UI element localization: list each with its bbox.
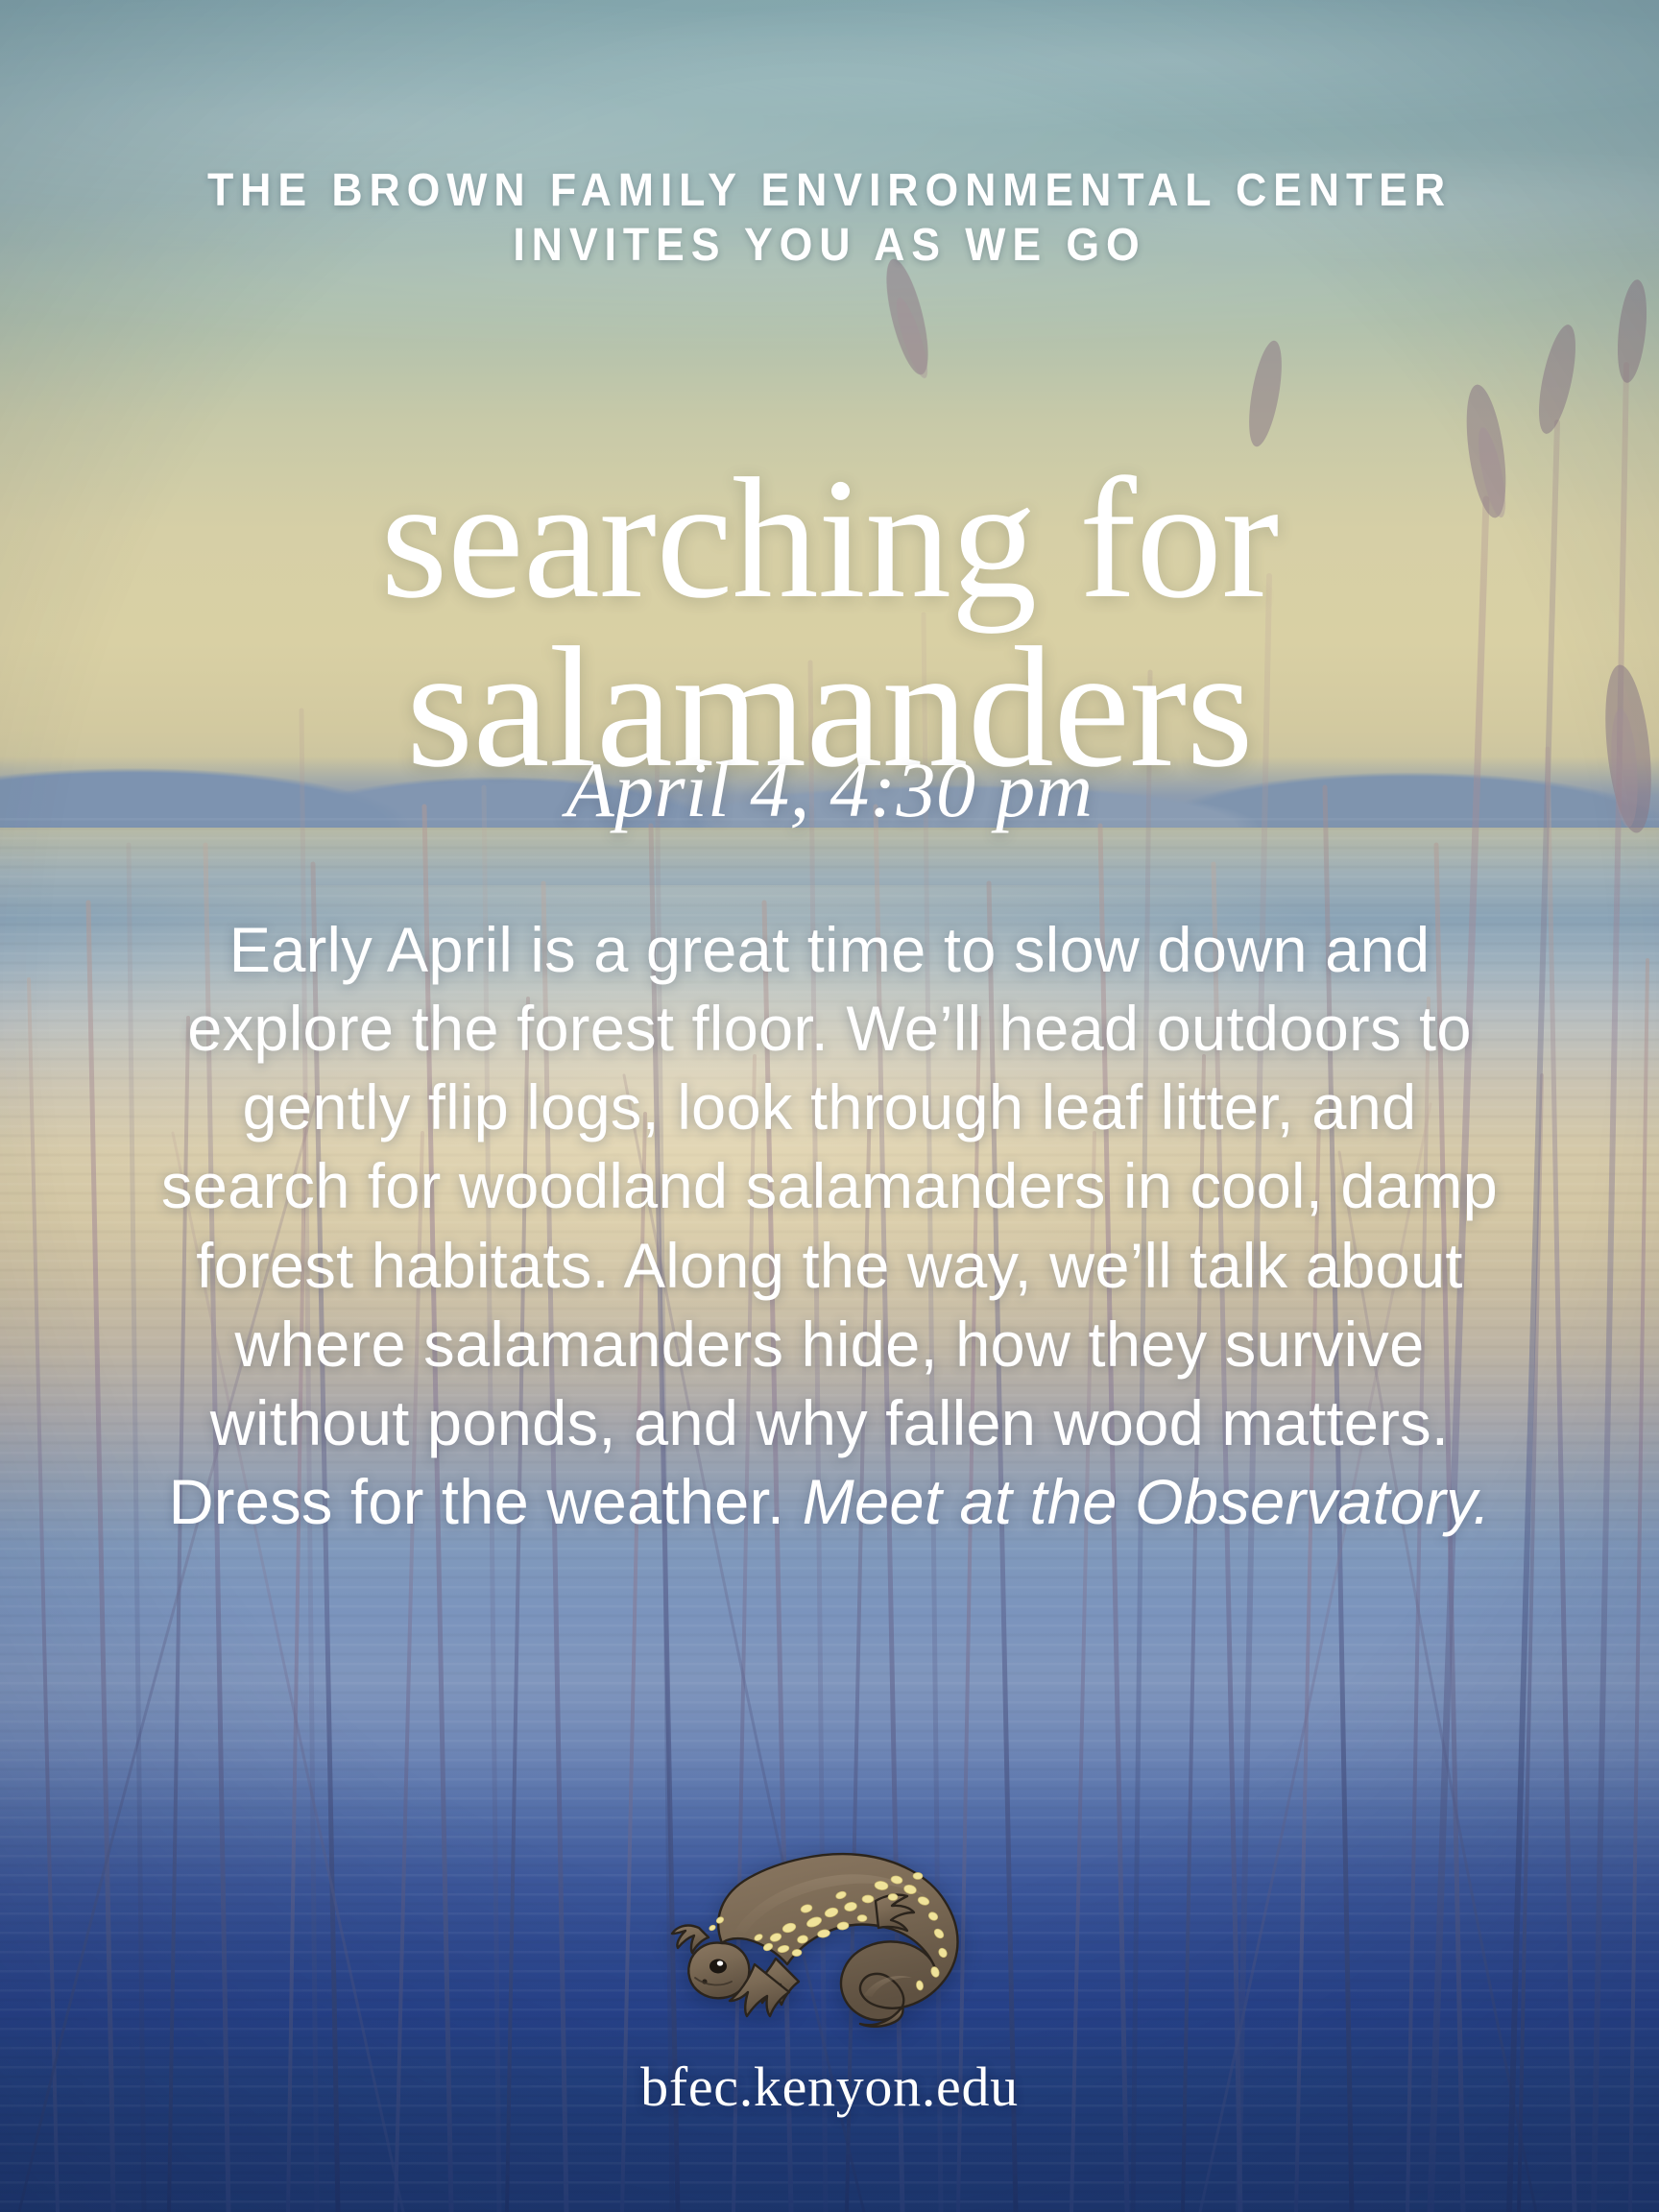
website-url[interactable]: bfec.kenyon.edu — [0, 2055, 1659, 2119]
event-datetime: April 4, 4:30 pm — [0, 751, 1659, 829]
description-line-6: where salamanders hide, how they survive — [48, 1305, 1610, 1383]
description-meeting-location: Meet at the Observatory. — [803, 1466, 1491, 1537]
kicker-line-2: INVITES YOU AS WE GO — [58, 218, 1600, 273]
description-line-7: without ponds, and why fallen wood matte… — [48, 1383, 1610, 1462]
description-dress-text: Dress for the weather. — [169, 1466, 803, 1537]
spotted-salamander-illustration — [662, 1793, 1008, 2039]
description-line-4: search for woodland salamanders in cool,… — [48, 1146, 1610, 1225]
description-line-5: forest habitats. Along the way, we’ll ta… — [48, 1226, 1610, 1305]
headline-line-1: searching for — [0, 454, 1659, 623]
event-poster: THE BROWN FAMILY ENVIRONMENTAL CENTER IN… — [0, 0, 1659, 2212]
poster-content: THE BROWN FAMILY ENVIRONMENTAL CENTER IN… — [0, 0, 1659, 2212]
description-line-8: Dress for the weather. Meet at the Obser… — [48, 1462, 1610, 1541]
description-line-3: gently flip logs, look through leaf litt… — [48, 1068, 1610, 1146]
page-title: searching for salamanders — [0, 454, 1659, 793]
kicker-text: THE BROWN FAMILY ENVIRONMENTAL CENTER IN… — [58, 163, 1600, 273]
event-description: Early April is a great time to slow down… — [48, 910, 1610, 1541]
description-line-2: explore the forest floor. We’ll head out… — [48, 989, 1610, 1068]
kicker-line-1: THE BROWN FAMILY ENVIRONMENTAL CENTER — [58, 163, 1600, 218]
description-line-1: Early April is a great time to slow down… — [48, 910, 1610, 989]
